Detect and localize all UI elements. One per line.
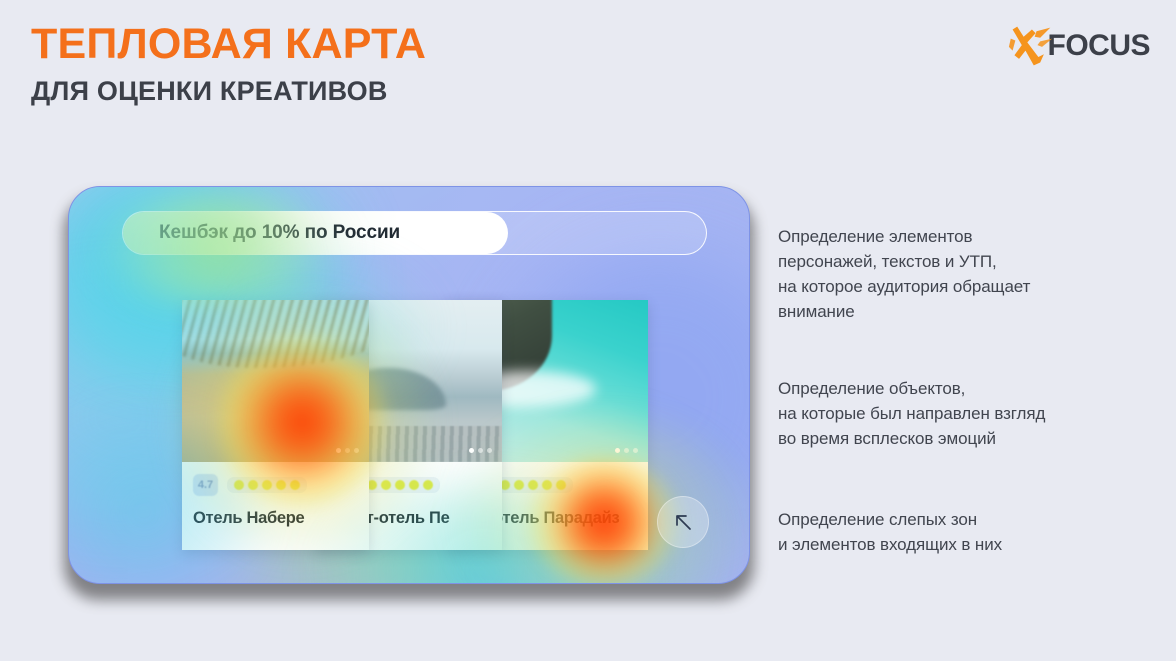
star-icon	[381, 480, 391, 490]
carousel-dot[interactable]	[336, 448, 341, 453]
hotel-name: Отель Набере	[193, 509, 358, 528]
carousel-dot[interactable]	[469, 448, 474, 453]
hotel-photo-beach	[182, 300, 369, 462]
photo-carousel-dots[interactable]	[469, 448, 492, 453]
star-icon	[423, 480, 433, 490]
brand-logo[interactable]: FOCUS	[1008, 23, 1151, 69]
rating-badge: 4.7	[193, 474, 218, 496]
photo-carousel-dots[interactable]	[615, 448, 638, 453]
carousel-dot[interactable]	[633, 448, 638, 453]
star-icon	[276, 480, 286, 490]
hotel-card-list: 4.7 Отель Набере	[182, 300, 642, 555]
search-input-value: Кешбэк до 10% по России	[159, 222, 400, 244]
star-icon	[409, 480, 419, 490]
hotel-card[interactable]: 4.7 Отель Набере	[182, 300, 369, 550]
search-input[interactable]: Кешбэк до 10% по России	[122, 211, 707, 255]
carousel-dot[interactable]	[624, 448, 629, 453]
star-rating	[227, 477, 307, 493]
page-title: ТЕПЛОВАЯ КАРТА	[31, 22, 731, 67]
star-icon	[290, 480, 300, 490]
carousel-dot[interactable]	[487, 448, 492, 453]
page-header: ТЕПЛОВАЯ КАРТА ДЛЯ ОЦЕНКИ КРЕАТИВОВ	[31, 22, 731, 107]
feature-item-blind-zones: Определение слепых зон и элементов входя…	[778, 507, 1158, 557]
star-icon	[528, 480, 538, 490]
carousel-dot[interactable]	[615, 448, 620, 453]
star-icon	[262, 480, 272, 490]
hotel-card-body: 4.7 Отель Набере	[182, 462, 369, 528]
star-icon	[248, 480, 258, 490]
device-screen: Кешбэк до 10% по России 4.7	[68, 186, 750, 584]
expand-cursor-arrow-icon[interactable]	[657, 496, 709, 548]
x-brush-mark-icon	[1008, 23, 1054, 69]
logo-text: FOCUS	[1048, 31, 1151, 61]
star-icon	[234, 480, 244, 490]
feature-list: Определение элементов персонажей, тексто…	[778, 224, 1158, 557]
star-icon	[514, 480, 524, 490]
carousel-dot[interactable]	[478, 448, 483, 453]
star-icon	[542, 480, 552, 490]
beach-palm-photo-icon	[182, 300, 369, 462]
star-rating	[360, 477, 440, 493]
carousel-dot[interactable]	[345, 448, 350, 453]
heatmap-mockup: Кешбэк до 10% по России 4.7	[60, 186, 750, 596]
photo-carousel-dots[interactable]	[336, 448, 359, 453]
carousel-dot[interactable]	[354, 448, 359, 453]
hotel-rating-row: 4.7	[193, 474, 358, 496]
star-icon	[556, 480, 566, 490]
page-subtitle: ДЛЯ ОЦЕНКИ КРЕАТИВОВ	[31, 77, 731, 107]
star-icon	[395, 480, 405, 490]
star-rating	[493, 477, 573, 493]
feature-item-objects: Определение объектов, на которые был нап…	[778, 376, 1158, 451]
feature-item-elements: Определение элементов персонажей, тексто…	[778, 224, 1158, 324]
